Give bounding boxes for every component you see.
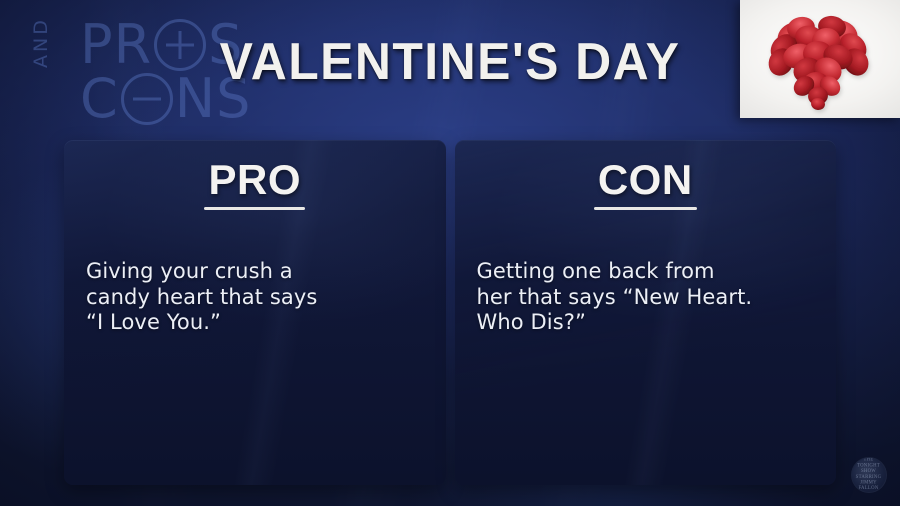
network-logo-bug: The Tonight Show Starring Jimmy Fallon xyxy=(852,458,886,492)
rose-petal-heart-photo xyxy=(740,0,900,118)
pro-panel: PRO Giving your crush a candy heart that… xyxy=(64,140,446,485)
con-panel-heading: CON xyxy=(455,156,837,210)
pro-heading-label: PRO xyxy=(204,156,305,210)
network-bug-line-6: Fallon xyxy=(856,486,882,492)
pros-cons-panel-group: PRO Giving your crush a candy heart that… xyxy=(64,140,836,485)
con-panel: CON Getting one back from her that says … xyxy=(455,140,837,485)
con-panel-body-text: Getting one back from her that says “New… xyxy=(477,259,815,336)
slide-canvas: AND PR S C NS VALENTINE'S DAY xyxy=(0,0,900,506)
pro-panel-heading: PRO xyxy=(64,156,446,210)
network-bug-text: The Tonight Show Starring Jimmy Fallon xyxy=(856,458,882,492)
con-heading-label: CON xyxy=(594,156,697,210)
pro-panel-body-text: Giving your crush a candy heart that say… xyxy=(86,259,424,336)
rose-petal-heart-illustration xyxy=(740,0,900,118)
